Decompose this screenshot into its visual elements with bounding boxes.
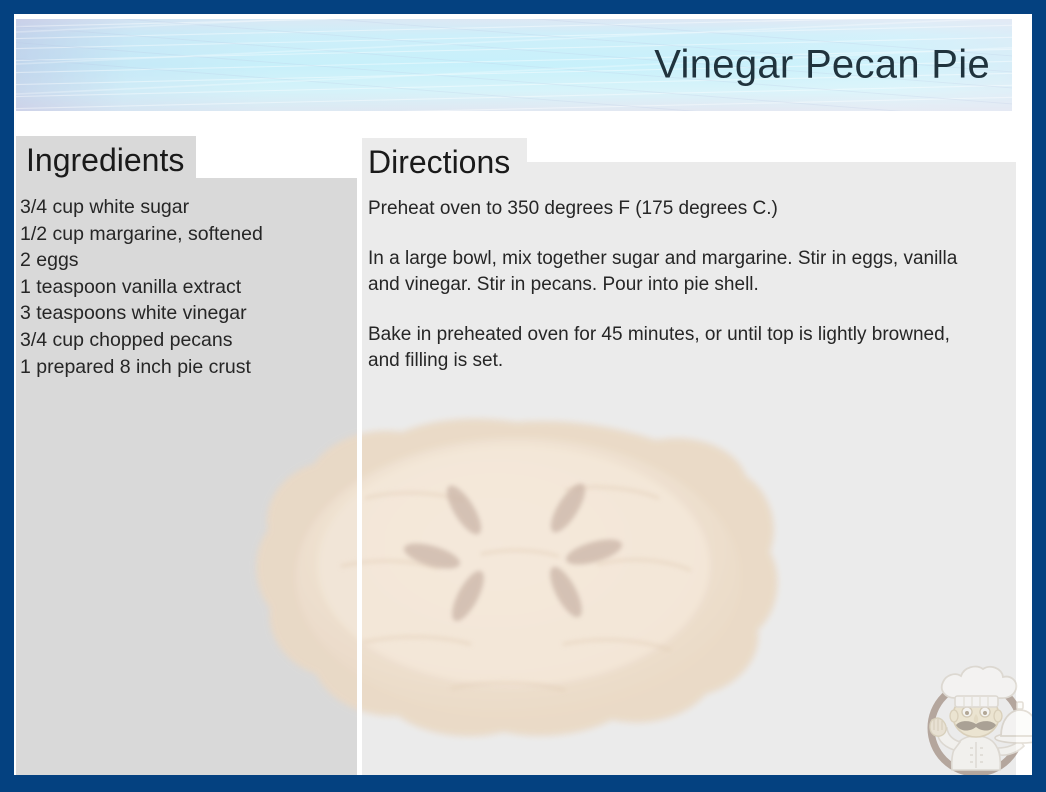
- direction-step: In a large bowl, mix together sugar and …: [368, 246, 978, 298]
- directions-heading: Directions: [368, 144, 510, 181]
- list-item: 2 eggs: [20, 247, 350, 274]
- ingredients-list: 3/4 cup white sugar 1/2 cup margarine, s…: [20, 194, 350, 380]
- ingredients-tab-notch: [196, 136, 357, 178]
- recipe-title: Vinegar Pecan Pie: [654, 43, 990, 88]
- list-item: 3/4 cup white sugar: [20, 194, 350, 221]
- ingredients-heading: Ingredients: [26, 142, 184, 179]
- header-banner: Vinegar Pecan Pie: [16, 19, 1012, 111]
- list-item: 3/4 cup chopped pecans: [20, 327, 350, 354]
- directions-list: Preheat oven to 350 degrees F (175 degre…: [368, 196, 978, 398]
- direction-step: Bake in preheated oven for 45 minutes, o…: [368, 322, 978, 374]
- list-item: 1 prepared 8 inch pie crust: [20, 354, 350, 381]
- list-item: 1 teaspoon vanilla extract: [20, 274, 350, 301]
- list-item: 1/2 cup margarine, softened: [20, 221, 350, 248]
- recipe-card: Vinegar Pecan Pie Ingredients 3/4 cup wh…: [0, 0, 1046, 792]
- panel-divider: [357, 136, 362, 775]
- recipe-page: Vinegar Pecan Pie Ingredients 3/4 cup wh…: [14, 14, 1032, 775]
- list-item: 3 teaspoons white vinegar: [20, 300, 350, 327]
- direction-step: Preheat oven to 350 degrees F (175 degre…: [368, 196, 978, 222]
